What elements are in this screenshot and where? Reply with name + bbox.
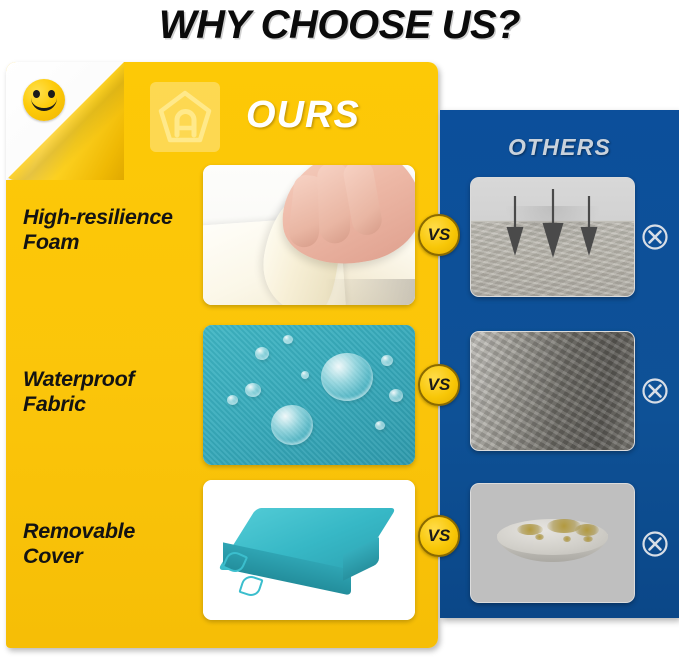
ours-heading: OURS xyxy=(246,94,360,137)
row-label-line2: Fabric xyxy=(23,392,198,417)
stain-speck-1 xyxy=(535,534,544,540)
smiley-face-icon xyxy=(23,79,65,121)
water-drop-large-1 xyxy=(321,353,373,401)
water-drop-small-6 xyxy=(389,389,403,402)
x-circle-icon-row-1 xyxy=(641,223,669,251)
smiley-mouth xyxy=(31,94,57,111)
water-drop-small-8 xyxy=(301,371,309,379)
row-label-line1: Removable xyxy=(23,519,198,544)
ours-image-waterproof-fabric xyxy=(203,325,415,465)
ours-image-high-resilience-foam xyxy=(203,165,415,305)
water-drop-small-7 xyxy=(375,421,385,430)
water-drop-small-2 xyxy=(283,335,293,344)
others-image-wet-fabric xyxy=(470,331,635,451)
vs-badge-row-3: VS xyxy=(418,515,460,557)
wet-stained-grey-fabric-photo xyxy=(471,332,634,450)
row-label-high-resilience-foam: High-resilience Foam xyxy=(23,205,198,255)
vs-badge-row-2: VS xyxy=(418,364,460,406)
hand-bending-cream-foam-photo xyxy=(203,165,415,305)
row-label-removable-cover: Removable Cover xyxy=(23,519,198,569)
others-image-stained-cushion xyxy=(470,483,635,603)
foam-shadow xyxy=(325,279,415,305)
row-label-line1: Waterproof xyxy=(23,367,198,392)
ours-image-removable-cover xyxy=(203,480,415,620)
x-circle-icon-row-2 xyxy=(641,377,669,405)
teal-fabric-water-droplets-photo xyxy=(203,325,415,465)
vs-badge-row-1: VS xyxy=(418,214,460,256)
sagging-grey-foam-with-down-arrows-photo xyxy=(471,178,634,296)
water-drop-small-4 xyxy=(227,395,238,405)
water-drop-small-5 xyxy=(381,355,393,366)
peeled-corner xyxy=(6,62,124,180)
stain-speck-3 xyxy=(583,536,593,542)
water-drop-large-2 xyxy=(271,405,313,445)
x-circle-icon-row-3 xyxy=(641,530,669,558)
stained-grey-round-cushion-photo xyxy=(471,484,634,602)
stain-blob-3 xyxy=(575,524,599,536)
page-title: WHY CHOOSE US? xyxy=(0,0,679,50)
row-label-waterproof-fabric: Waterproof Fabric xyxy=(23,367,198,417)
row-label-line2: Foam xyxy=(23,230,198,255)
water-drop-small-3 xyxy=(245,383,261,397)
house-pentagon-logo-icon xyxy=(150,82,220,152)
cushion-tie-2 xyxy=(238,573,263,598)
row-label-line1: High-resilience xyxy=(23,205,198,230)
water-drop-small-1 xyxy=(255,347,269,360)
others-image-sagging-foam xyxy=(470,177,635,297)
row-label-line2: Cover xyxy=(23,544,198,569)
teal-cushion-with-ties-photo xyxy=(203,480,415,620)
others-heading: OTHERS xyxy=(440,134,679,161)
stain-speck-2 xyxy=(563,536,571,542)
